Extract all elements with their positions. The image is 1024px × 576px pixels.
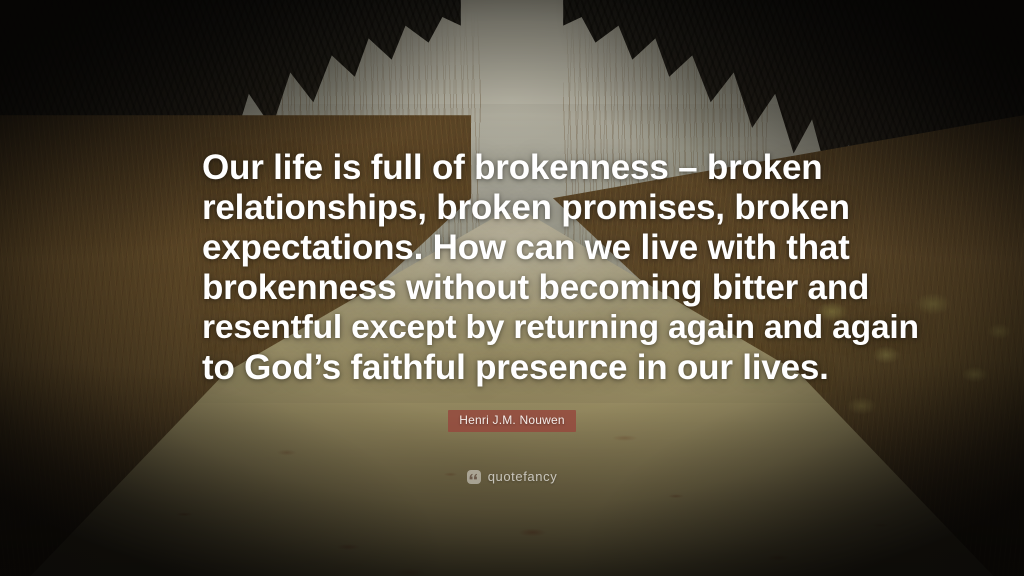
quote-line: brokenness without becoming bitter and (202, 268, 822, 308)
watermark[interactable]: quotefancy (467, 470, 558, 484)
quote-line: resentful except by returning again and … (202, 308, 822, 348)
quote-line: to God’s faithful presence in our lives. (202, 348, 822, 388)
watermark-brand: quotefancy (488, 470, 558, 484)
author-badge[interactable]: Henri J.M. Nouwen (448, 410, 575, 432)
quote-line: Our life is full of brokenness – broken (202, 148, 822, 188)
quote-body: Our life is full of brokenness – broken … (202, 148, 822, 388)
quote-line: expectations. How can we live with that (202, 228, 822, 268)
quote-image: Our life is full of brokenness – broken … (0, 0, 1024, 576)
quote-overlay: Our life is full of brokenness – broken … (0, 0, 1024, 576)
quote-mark-icon (467, 470, 481, 484)
quote-line: relationships, broken promises, broken (202, 188, 822, 228)
